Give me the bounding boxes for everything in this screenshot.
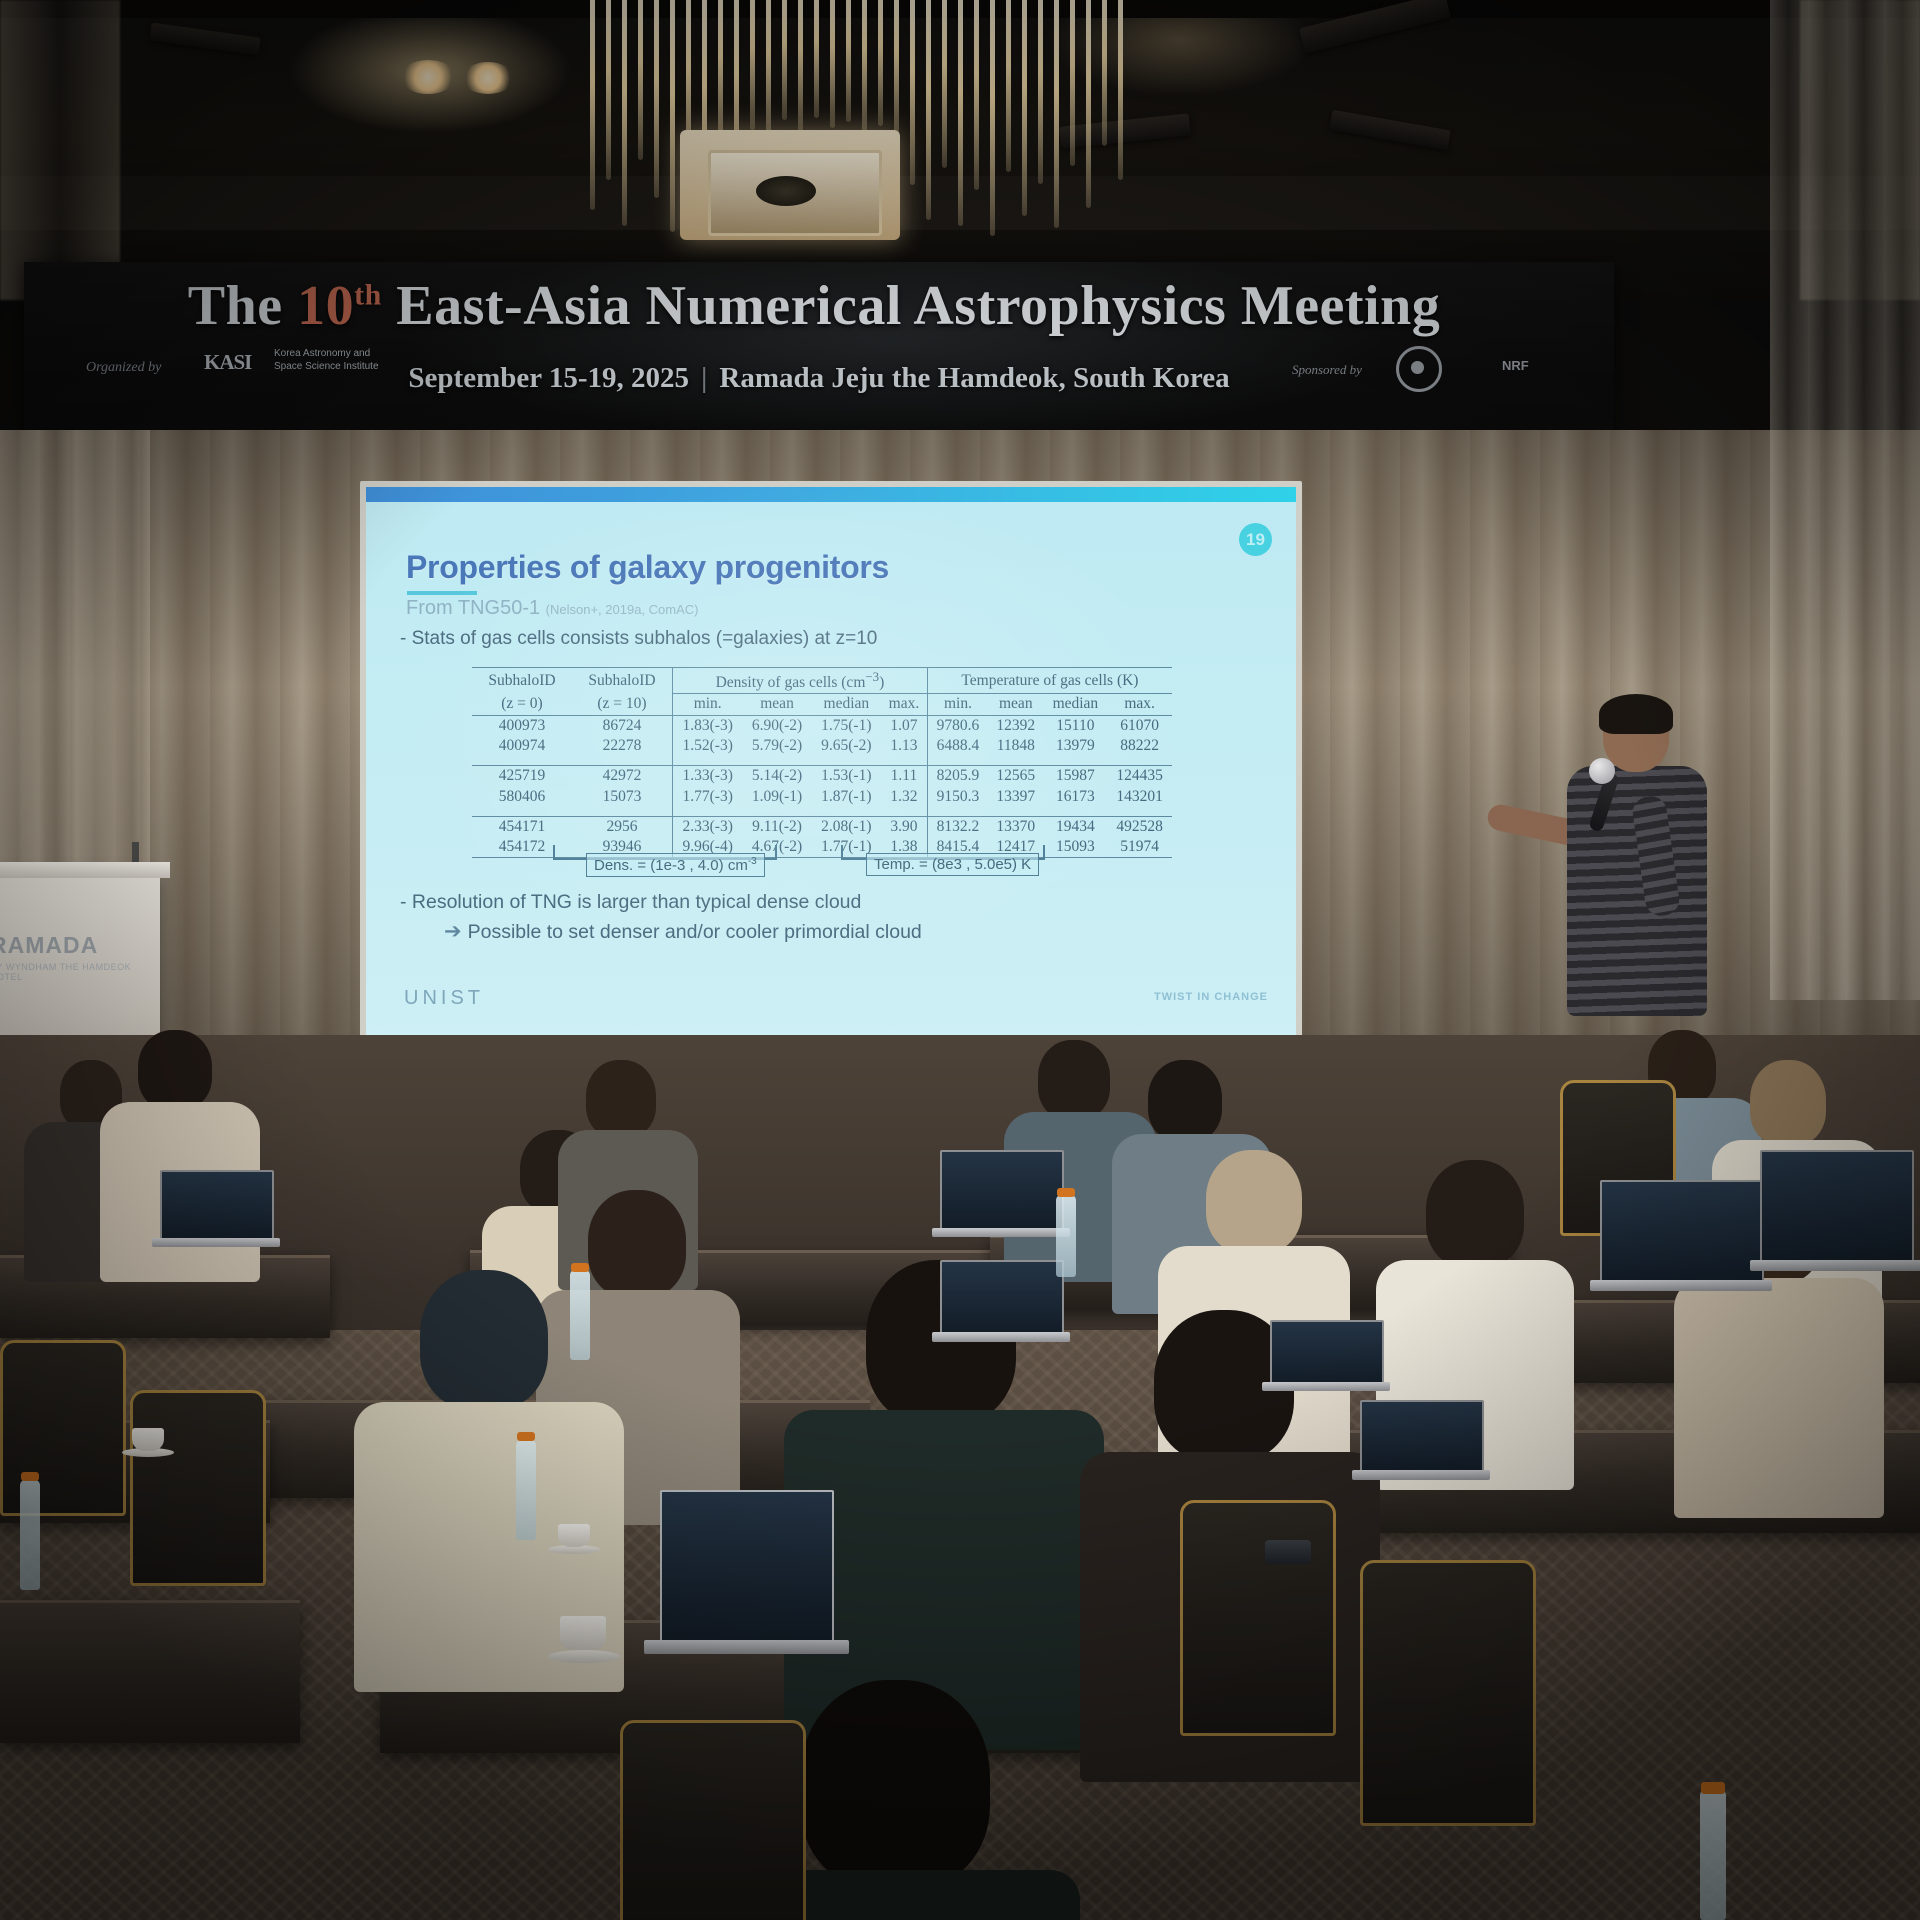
spotlight-2 — [462, 62, 514, 94]
bottle-cap — [517, 1432, 535, 1441]
density-range-exponent: -3 — [748, 856, 757, 867]
cell-dens-median: 1.53(-1) — [812, 766, 881, 787]
temperature-group-header: Temperature of gas cells (K) — [927, 668, 1172, 694]
cell-dens-min: 1.33(-3) — [673, 766, 743, 787]
title-underline — [407, 591, 477, 595]
slide-number-badge: 19 — [1239, 523, 1272, 556]
density-range-annotation: Dens. = (1e-3 , 4.0) cm-3 — [586, 853, 765, 877]
laptop-base — [932, 1332, 1070, 1342]
side-drape-right — [1770, 0, 1920, 1000]
water-bottle — [20, 1480, 40, 1590]
cell-temp-median: 19434 — [1044, 816, 1108, 837]
cell-dens-mean: 6.90(-2) — [742, 715, 811, 736]
cell-dens-median: 9.65(-2) — [812, 736, 881, 756]
table-row: 425719 42972 1.33(-3) 5.14(-2) 1.53(-1) … — [472, 766, 1172, 787]
cell-temp-mean: 13397 — [988, 787, 1044, 807]
smartphone — [1265, 1540, 1311, 1564]
water-bottle — [516, 1440, 536, 1540]
gas-cell-table-wrapper: SubhaloID SubhaloID Density of gas cells… — [472, 667, 1172, 861]
hotel-subtitle: BY WYNDHAM THE HAMDEOK HOTEL — [0, 962, 140, 982]
audience-head — [1206, 1150, 1302, 1254]
cell-temp-min: 8132.2 — [927, 816, 988, 837]
density-group-label: Density of gas cells (cm — [716, 674, 866, 691]
cell-temp-min: 9150.3 — [927, 787, 988, 807]
density-group-tail: ) — [879, 674, 884, 691]
density-group-header: Density of gas cells (cm−3) — [673, 668, 928, 694]
audience-head — [138, 1030, 212, 1110]
density-median-header: median — [812, 694, 881, 715]
laptop-screen — [1360, 1400, 1484, 1474]
lectern-top — [0, 862, 170, 878]
cell-temp-min: 9780.6 — [927, 715, 988, 736]
banner-location: Ramada Jeju the Hamdeok, South Korea — [719, 362, 1229, 394]
bottle-cap — [21, 1472, 39, 1481]
laptop-base — [1750, 1260, 1920, 1271]
saucer — [548, 1650, 620, 1663]
cell-id-z10: 22278 — [572, 736, 673, 756]
unist-tagline: TWIST IN CHANGE — [1154, 991, 1268, 1003]
gas-cell-statistics-table: SubhaloID SubhaloID Density of gas cells… — [472, 667, 1172, 861]
kasi-logo: KASI — [204, 350, 251, 375]
cell-id-z0: 400974 — [472, 736, 572, 756]
audience-head — [586, 1060, 656, 1138]
cell-dens-min: 1.83(-3) — [673, 715, 743, 736]
presenter — [1545, 700, 1715, 1060]
banner-title-post: East-Asia Numerical Astrophysics Meeting — [382, 275, 1441, 337]
cell-dens-median: 1.75(-1) — [812, 715, 881, 736]
cell-dens-mean: 9.11(-2) — [742, 816, 811, 837]
cell-dens-min: 2.33(-3) — [673, 816, 743, 837]
slide-top-accent-bar — [366, 487, 1296, 502]
water-bottle — [1700, 1790, 1726, 1920]
laptop-base — [932, 1228, 1070, 1237]
audience-table — [0, 1600, 300, 1743]
sponsored-by-label: Sponsored by — [1292, 362, 1362, 378]
subhalo-id-z10-header-line2: (z = 10) — [572, 694, 673, 715]
coffee-cup — [558, 1524, 590, 1547]
bottle-cap — [571, 1263, 589, 1272]
cell-temp-min: 8205.9 — [927, 766, 988, 787]
organizer-name: Korea Astronomy and Space Science Instit… — [274, 348, 394, 373]
source-label: From TNG50-1 — [406, 597, 540, 619]
audience-torso — [1674, 1278, 1884, 1518]
sponsor-ring-logo — [1396, 346, 1442, 392]
cell-id-z0: 454171 — [472, 816, 572, 837]
conference-banner: The 10th East-Asia Numerical Astrophysic… — [24, 262, 1614, 457]
cell-temp-median: 13979 — [1044, 736, 1108, 756]
subhalo-id-z0-header-line2: (z = 0) — [472, 694, 572, 715]
cell-id-z10: 86724 — [572, 715, 673, 736]
density-min-header: min. — [673, 694, 743, 715]
chair — [0, 1340, 126, 1516]
density-max-header: max. — [881, 694, 927, 715]
cell-dens-mean: 5.14(-2) — [742, 766, 811, 787]
audience-head — [588, 1190, 686, 1298]
laptop-screen — [940, 1150, 1064, 1232]
cell-dens-max: 1.11 — [881, 766, 927, 787]
banner-separator: | — [689, 362, 719, 394]
bullet-possible: ➔Possible to set denser and/or cooler pr… — [444, 919, 922, 944]
nrf-logo: NRF — [1502, 358, 1529, 373]
cell-temp-mean: 12565 — [988, 766, 1044, 787]
microphone-icon — [1589, 758, 1615, 784]
conference-room-photo: The 10th East-Asia Numerical Astrophysic… — [0, 0, 1920, 1920]
cell-dens-max: 3.90 — [881, 816, 927, 837]
coffee-cup — [560, 1616, 606, 1650]
cell-dens-median: 1.87(-1) — [812, 787, 881, 807]
audience-head — [1426, 1160, 1524, 1268]
cell-id-z0: 400973 — [472, 715, 572, 736]
laptop-screen — [1760, 1150, 1914, 1264]
subhalo-id-z0-header-line1: SubhaloID — [472, 668, 572, 694]
laptop-screen — [160, 1170, 274, 1242]
banner-title-number: 10 — [297, 275, 354, 337]
laptop-screen — [660, 1490, 834, 1644]
ceiling-drape-left — [0, 0, 120, 300]
banner-title-ordinal: th — [354, 278, 382, 311]
density-group-exponent: −3 — [865, 669, 879, 684]
hotel-name: RAMADA — [0, 932, 140, 959]
cell-temp-mean: 12392 — [988, 715, 1044, 736]
banner-title: The 10th East-Asia Numerical Astrophysic… — [104, 274, 1524, 338]
cell-id-z10: 42972 — [572, 766, 673, 787]
arrow-icon: ➔ — [444, 920, 468, 943]
cell-dens-min: 1.52(-3) — [673, 736, 743, 756]
table-row: 580406 15073 1.77(-3) 1.09(-1) 1.87(-1) … — [472, 787, 1172, 807]
source-citation: (Nelson+, 2019a, ComAC) — [546, 602, 699, 617]
banner-dates: September 15-19, 2025 — [408, 362, 689, 394]
chandelier — [560, 0, 1280, 250]
cell-temp-max: 51974 — [1107, 837, 1172, 858]
chair — [1360, 1560, 1536, 1826]
cell-dens-max: 1.13 — [881, 736, 927, 756]
presenter-hair — [1599, 694, 1673, 734]
projector-lens — [756, 176, 816, 206]
bullet-possible-text: Possible to set denser and/or cooler pri… — [468, 921, 922, 943]
water-bottle — [1056, 1195, 1076, 1277]
audience-head — [800, 1680, 990, 1890]
cell-temp-max: 88222 — [1107, 736, 1172, 756]
bottle-cap — [1057, 1188, 1075, 1197]
chair — [130, 1390, 266, 1586]
cell-temp-mean: 11848 — [988, 736, 1044, 756]
cell-dens-min: 1.77(-3) — [673, 787, 743, 807]
cell-temp-min: 6488.4 — [927, 736, 988, 756]
cell-temp-median: 15987 — [1044, 766, 1108, 787]
table-row: 400973 86724 1.83(-3) 6.90(-2) 1.75(-1) … — [472, 715, 1172, 736]
temperature-mean-header: mean — [988, 694, 1044, 715]
laptop-base — [1590, 1280, 1772, 1291]
temperature-min-header: min. — [927, 694, 988, 715]
cell-temp-mean: 13370 — [988, 816, 1044, 837]
audience-head — [420, 1270, 548, 1410]
laptop-base — [1352, 1470, 1490, 1480]
cell-dens-mean: 1.09(-1) — [742, 787, 811, 807]
laptop-screen — [940, 1260, 1064, 1336]
audience-head — [1148, 1060, 1222, 1142]
slide-source: From TNG50-1 (Nelson+, 2019a, ComAC) — [406, 597, 699, 620]
laptop-base — [1262, 1382, 1390, 1391]
cell-id-z0: 425719 — [472, 766, 572, 787]
chair — [620, 1720, 806, 1920]
cell-dens-max: 1.07 — [881, 715, 927, 736]
cell-temp-max: 124435 — [1107, 766, 1172, 787]
density-mean-header: mean — [742, 694, 811, 715]
cell-id-z10: 2956 — [572, 816, 673, 837]
cell-temp-max: 143201 — [1107, 787, 1172, 807]
presentation-slide: 19 Properties of galaxy progenitors From… — [366, 487, 1296, 1039]
density-range-text: Dens. = (1e-3 , 4.0) cm — [594, 857, 748, 874]
bottle-cap — [1701, 1782, 1725, 1794]
spotlight-1 — [400, 60, 456, 94]
audience-head — [1038, 1040, 1110, 1120]
cell-id-z10: 15073 — [572, 787, 673, 807]
bullet-resolution: - Resolution of TNG is larger than typic… — [400, 891, 861, 914]
cell-temp-median: 15110 — [1044, 715, 1108, 736]
banner-subtitle: September 15-19, 2025|Ramada Jeju the Ha… — [24, 362, 1614, 395]
table-row: 400974 22278 1.52(-3) 5.79(-2) 9.65(-2) … — [472, 736, 1172, 756]
organized-by-label: Organized by — [86, 360, 161, 376]
audience-head — [1750, 1060, 1826, 1146]
cell-dens-max: 1.32 — [881, 787, 927, 807]
cell-temp-median: 16173 — [1044, 787, 1108, 807]
cell-id-z0: 580406 — [472, 787, 572, 807]
slide-stats-line: - Stats of gas cells consists subhalos (… — [400, 628, 877, 650]
subhalo-id-z10-header-line1: SubhaloID — [572, 668, 673, 694]
laptop-base — [152, 1238, 280, 1247]
banner-title-pre: The — [188, 275, 297, 337]
temperature-range-annotation: Temp. = (8e3 , 5.0e5) K — [866, 853, 1039, 876]
temperature-median-header: median — [1044, 694, 1108, 715]
laptop-base — [644, 1640, 849, 1654]
unist-logo: UNIST — [404, 987, 484, 1010]
table-row: 454171 2956 2.33(-3) 9.11(-2) 2.08(-1) 3… — [472, 816, 1172, 837]
cell-dens-median: 2.08(-1) — [812, 816, 881, 837]
table-subheader-row: (z = 0) (z = 10) min. mean median max. m… — [472, 694, 1172, 715]
laptop-screen — [1270, 1320, 1384, 1386]
cell-temp-max: 492528 — [1107, 816, 1172, 837]
cell-temp-max: 61070 — [1107, 715, 1172, 736]
slide-title: Properties of galaxy progenitors — [406, 549, 889, 586]
coffee-cup — [132, 1428, 164, 1451]
cell-temp-median: 15093 — [1044, 837, 1108, 858]
cell-dens-mean: 5.79(-2) — [742, 736, 811, 756]
temperature-max-header: max. — [1107, 694, 1172, 715]
water-bottle — [570, 1270, 590, 1360]
laptop-screen — [1600, 1180, 1764, 1284]
chair — [1180, 1500, 1336, 1736]
table-group-header-row: SubhaloID SubhaloID Density of gas cells… — [472, 668, 1172, 694]
